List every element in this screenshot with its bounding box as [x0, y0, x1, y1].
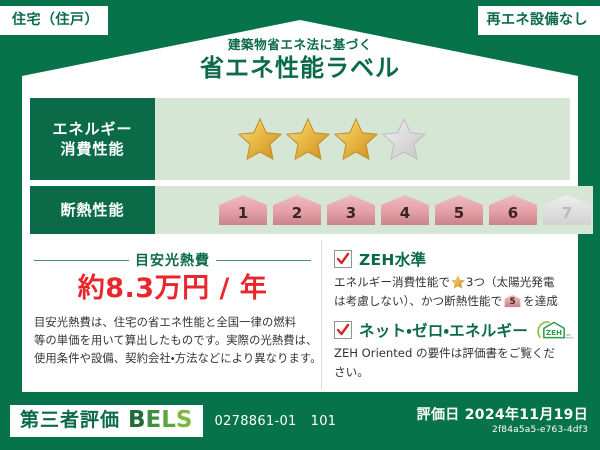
insulation-level-house: 6: [487, 193, 539, 227]
insulation-level-number: 4: [400, 204, 410, 227]
zeh-standard-header: ZEH水準: [334, 248, 573, 270]
insulation-level-house: 1: [217, 193, 269, 227]
insulation-performance-value: 1 2 3: [155, 186, 593, 234]
star-filled-icon: [237, 116, 283, 162]
star-empty-icon: [381, 116, 427, 162]
energy-performance-label-line1: エネルギー: [52, 119, 132, 139]
evaluation-date-value: 2024年11月19日: [465, 407, 588, 423]
zeh-column: ZEH水準 エネルギー消費性能で 3つ（太陽光発電 は考慮しない）、かつ断熱性能…: [322, 240, 583, 390]
evaluation-hash: 2f84a5a5-e763-4df3: [417, 425, 588, 435]
net-zero-energy-body-line2: さい。: [334, 363, 573, 382]
checkbox-checked-icon[interactable]: [334, 250, 352, 268]
insulation-level-house: 3: [325, 193, 377, 227]
zeh-standard-body: エネルギー消費性能で 3つ（太陽光発電 は考慮しない）、かつ断熱性能で: [334, 273, 573, 310]
zeh-house-logo-icon: ZEH ZEH Oriented: [535, 319, 573, 341]
zeh-standard-body-line1-a: エネルギー消費性能で: [334, 273, 450, 292]
zeh-standard-block: ZEH水準 エネルギー消費性能で 3つ（太陽光発電 は考慮しない）、かつ断熱性能…: [334, 248, 573, 310]
main-panel: エネルギー 消費性能: [22, 90, 578, 392]
net-zero-energy-block: ネット・ゼロ・エネルギー ZEH ZEH Oriented ZEH Orient…: [334, 319, 573, 381]
rule-right: [216, 260, 311, 261]
bels-logo: 第三者評価 BELS: [10, 405, 203, 437]
energy-performance-label: エネルギー 消費性能: [30, 98, 155, 180]
svg-text:ZEH: ZEH: [546, 328, 562, 337]
energy-performance-row: エネルギー 消費性能: [22, 98, 578, 180]
svg-text:Oriented: Oriented: [564, 337, 573, 340]
evaluation-date-label: 評価日: [417, 407, 460, 423]
insulation-level-number: 2: [292, 204, 302, 227]
zeh-standard-title: ZEH水準: [359, 248, 426, 270]
cost-note-line3: 使用条件や設備、契約会社・方法などにより異なります。: [34, 350, 311, 368]
insulation-level-house: 4: [379, 193, 431, 227]
insulation-level-scale: 1 2 3: [217, 193, 593, 227]
energy-label-root: 住宅（住戸） 再エネ設備なし 建築物省エネ法に基づく 省エネ性能ラベル エネルギ…: [0, 0, 600, 450]
zeh-standard-body-line2-b: を達成: [523, 292, 558, 311]
checkbox-checked-icon[interactable]: [334, 321, 352, 339]
net-zero-energy-body-line1: ZEH Oriented の要件は評価書をご覧くだ: [334, 344, 573, 363]
star-filled-icon: [333, 116, 379, 162]
certificate-number-group: 0278861-01101: [215, 414, 337, 429]
insulation-level-number: 5: [454, 204, 464, 227]
cost-note-line1: 目安光熱費は、住宅の省エネ性能と全国一律の燃料: [34, 314, 311, 332]
unit-number: 101: [311, 414, 337, 429]
zeh-standard-body-line2: は考慮しない）、かつ断熱性能で 5 を達成: [334, 292, 573, 311]
insulation-level-inline-badge: 5: [504, 294, 521, 308]
energy-performance-label-line2: 消費性能: [60, 139, 124, 159]
cost-value: 約8.3万円 / 年: [34, 274, 311, 304]
insulation-level-house: 5: [433, 193, 485, 227]
evaluation-date-group: 評価日 2024年11月19日 2f84a5a5-e763-4df3: [417, 407, 588, 435]
bels-wordmark: BELS: [128, 409, 192, 432]
certificate-number: 0278861-01: [215, 414, 297, 429]
cost-note: 目安光熱費は、住宅の省エネ性能と全国一律の燃料 等の単価を用いて算出したものです…: [34, 314, 311, 369]
insulation-level-house: 7: [541, 193, 593, 227]
star-inline-icon: [451, 275, 465, 289]
cost-heading: 目安光熱費: [135, 250, 210, 270]
star-rating: [237, 116, 427, 162]
net-zero-energy-header: ネット・ゼロ・エネルギー ZEH ZEH Oriented: [334, 319, 573, 341]
zeh-standard-body-line1-b: 3つ（太陽光発電: [466, 273, 555, 292]
insulation-level-inline-number: 5: [510, 298, 516, 308]
third-party-evaluation-label: 第三者評価: [20, 411, 120, 430]
insulation-level-number: 6: [508, 204, 518, 227]
zeh-standard-body-line2-a: は考慮しない）、かつ断熱性能で: [334, 292, 502, 311]
footer: 第三者評価 BELS 0278861-01101 評価日 2024年11月19日…: [0, 392, 600, 450]
net-zero-energy-title: ネット・ゼロ・エネルギー: [359, 319, 528, 341]
insulation-level-number: 3: [346, 204, 356, 227]
net-zero-energy-body: ZEH Oriented の要件は評価書をご覧くだ さい。: [334, 344, 573, 381]
rule-left: [34, 260, 129, 261]
insulation-level-house: 2: [271, 193, 323, 227]
lower-section: 目安光熱費 約8.3万円 / 年 目安光熱費は、住宅の省エネ性能と全国一律の燃料…: [22, 240, 578, 390]
insulation-level-number: 1: [238, 204, 248, 227]
insulation-performance-label: 断熱性能: [30, 186, 155, 234]
evaluation-date-row: 評価日 2024年11月19日: [417, 407, 588, 424]
cost-heading-row: 目安光熱費: [34, 250, 311, 270]
energy-performance-value: [155, 98, 570, 180]
insulation-performance-row: 断熱性能 1: [22, 186, 578, 234]
cost-column: 目安光熱費 約8.3万円 / 年 目安光熱費は、住宅の省エネ性能と全国一律の燃料…: [22, 240, 322, 390]
zeh-standard-body-line1: エネルギー消費性能で 3つ（太陽光発電: [334, 273, 573, 292]
cost-note-line2: 等の単価を用いて算出したものです。実際の光熱費は、: [34, 332, 311, 350]
roof-shape: [22, 20, 578, 92]
star-filled-icon: [285, 116, 331, 162]
insulation-level-number: 7: [562, 204, 572, 227]
